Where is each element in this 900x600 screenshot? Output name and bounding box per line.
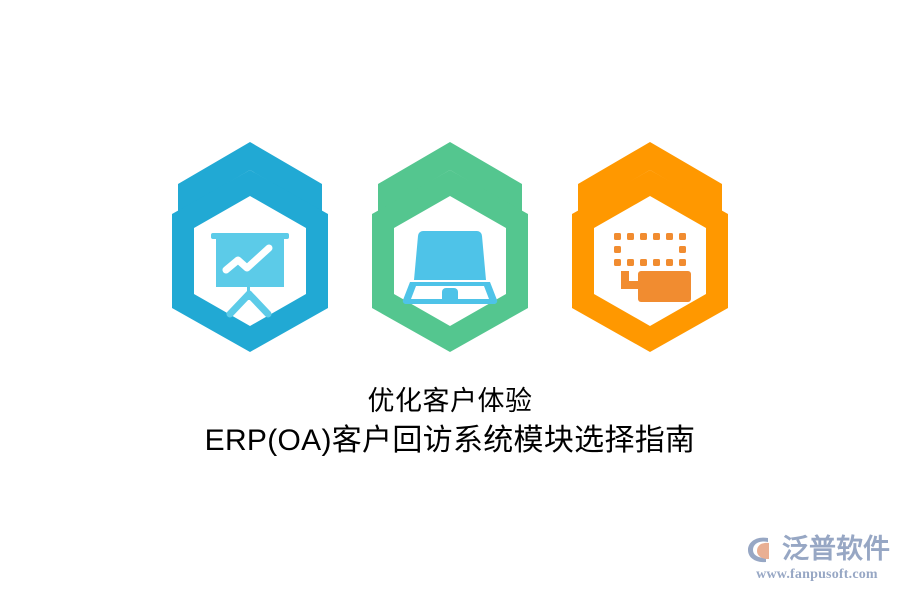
watermark: 泛普软件 www.fanpusoft.com: [746, 530, 888, 592]
poster-caption: 优化客户体验 ERP(OA)客户回访系统模块选择指南: [0, 386, 900, 458]
badge-row: [0, 140, 900, 380]
selection-box-icon: [614, 233, 691, 302]
caption-line-secondary: ERP(OA)客户回访系统模块选择指南: [0, 423, 900, 458]
laptop-icon: [403, 231, 497, 304]
watermark-brand-row: 泛普软件: [746, 530, 888, 568]
watermark-brand-text: 泛普软件: [782, 533, 890, 565]
badge-laptop[interactable]: [350, 140, 550, 380]
watermark-url: www.fanpusoft.com: [746, 567, 888, 583]
poster-canvas: 优化客户体验 ERP(OA)客户回访系统模块选择指南 泛普软件 www.fanp…: [0, 0, 900, 600]
badge-selection-box[interactable]: [550, 140, 750, 380]
badge-presentation-chart[interactable]: [150, 140, 350, 380]
caption-line-primary: 优化客户体验: [0, 386, 900, 418]
presentation-chart-icon: [211, 233, 289, 314]
fanpu-logo-icon: [746, 533, 780, 565]
